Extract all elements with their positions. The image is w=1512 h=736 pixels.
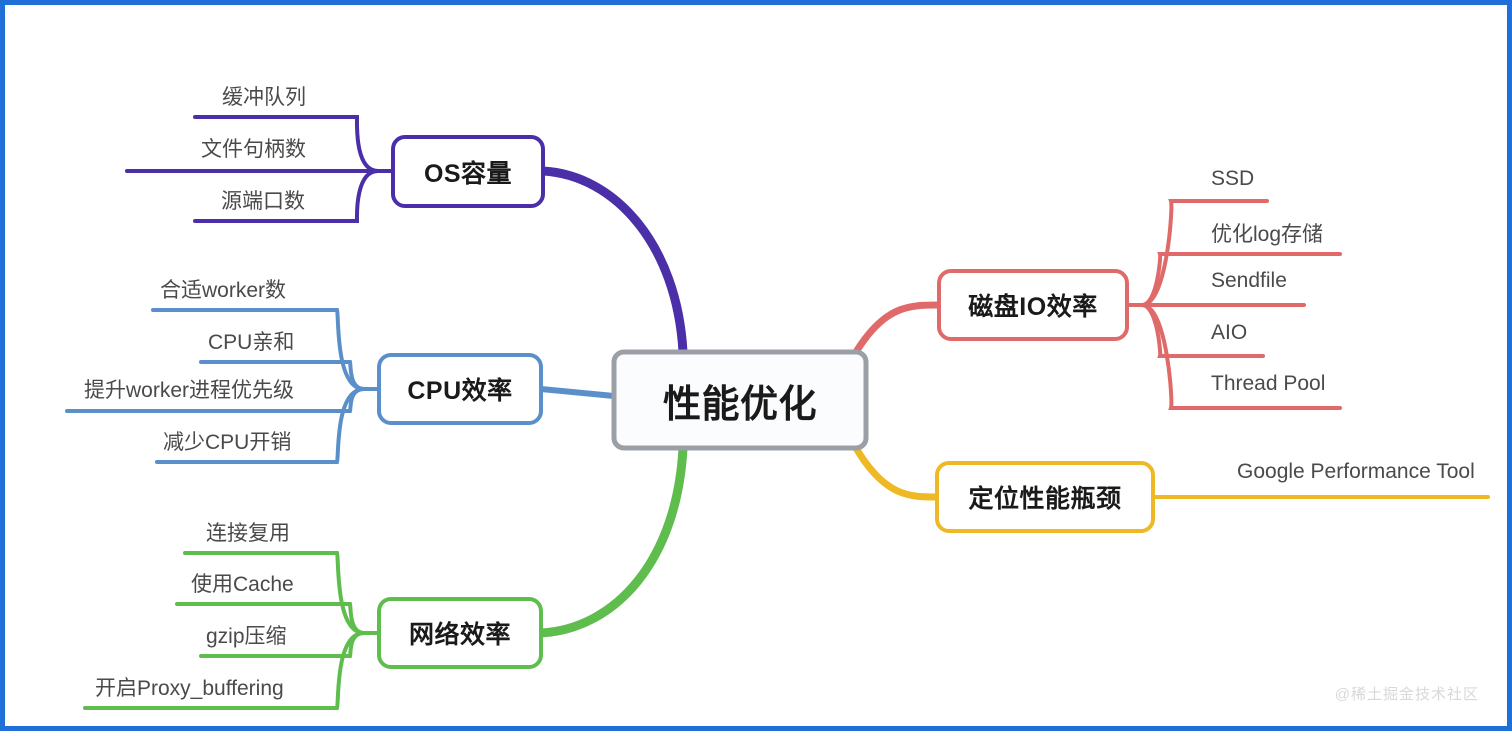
branch-node-bottleneck[interactable]: 定位性能瓶颈 — [937, 463, 1153, 531]
leaf-label: 源端口数 — [221, 190, 305, 213]
trunk-cpu — [541, 389, 614, 396]
leaf-disk-0[interactable]: SSD — [1211, 167, 1254, 191]
branch-label-disk: 磁盘IO效率 — [968, 287, 1097, 323]
trunk-bottleneck — [856, 448, 937, 497]
branch-label-cpu: CPU效率 — [407, 371, 512, 407]
branch-node-cpu[interactable]: CPU效率 — [379, 355, 541, 423]
leaf-label: 使用Cache — [191, 573, 294, 596]
leaf-label: 提升worker进程优先级 — [84, 379, 294, 402]
leaf-net-3[interactable]: 开启Proxy_buffering — [95, 672, 284, 702]
trunk-net — [541, 448, 683, 633]
leaf-os-2[interactable]: 源端口数 — [221, 185, 305, 215]
branch-node-disk[interactable]: 磁盘IO效率 — [939, 271, 1127, 339]
branch-label-net: 网络效率 — [409, 615, 511, 651]
leaf-label: AIO — [1211, 321, 1247, 344]
leaf-label: CPU亲和 — [208, 331, 294, 354]
leaf-cpu-2[interactable]: 提升worker进程优先级 — [84, 374, 294, 404]
watermark: @稀土掘金技术社区 — [1335, 683, 1479, 704]
branch-node-os[interactable]: OS容量 — [393, 137, 543, 206]
branch-label-bottleneck: 定位性能瓶颈 — [968, 479, 1121, 515]
leaf-label: 文件句柄数 — [201, 138, 306, 161]
leaf-label: Sendfile — [1211, 269, 1287, 292]
leaf-label: 优化log存储 — [1211, 223, 1323, 246]
leaf-net-2[interactable]: gzip压缩 — [206, 620, 287, 650]
trunk-disk — [856, 305, 939, 352]
central-node[interactable]: 性能优化 — [614, 352, 866, 448]
leaf-label: 连接复用 — [206, 522, 290, 545]
leaf-cpu-1[interactable]: CPU亲和 — [208, 326, 294, 356]
mindmap-canvas: 性能优化 OS容量 CPU效率 网络效率 磁盘IO效率 定位性能瓶颈 缓冲队列 … — [0, 0, 1512, 731]
leaf-label: 缓冲队列 — [222, 86, 306, 109]
leaf-label: 开启Proxy_buffering — [95, 677, 284, 700]
leaf-label: Thread Pool — [1211, 372, 1325, 395]
leaf-label: 减少CPU开销 — [163, 431, 291, 454]
leaf-label: SSD — [1211, 167, 1254, 190]
branch-label-os: OS容量 — [424, 154, 512, 190]
leaf-os-0[interactable]: 缓冲队列 — [5, 81, 523, 111]
leaf-label: 合适worker数 — [160, 279, 286, 302]
leaf-disk-3[interactable]: AIO — [1211, 321, 1247, 345]
leaf-disk-2[interactable]: Sendfile — [1211, 269, 1287, 293]
central-node-label: 性能优化 — [663, 373, 817, 428]
leaf-label: Google Performance Tool — [1237, 460, 1475, 483]
leaf-label: gzip压缩 — [206, 625, 287, 648]
leaf-bottleneck-0[interactable]: Google Performance Tool — [1237, 460, 1475, 484]
leaf-cpu-0[interactable]: 合适worker数 — [160, 274, 286, 304]
leaf-os-1[interactable]: 文件句柄数 — [201, 133, 306, 163]
leaf-net-1[interactable]: 使用Cache — [191, 568, 294, 598]
leaf-net-0[interactable]: 连接复用 — [206, 517, 290, 547]
leaf-disk-1[interactable]: 优化log存储 — [1211, 218, 1323, 248]
leaf-cpu-3[interactable]: 减少CPU开销 — [163, 426, 291, 456]
trunk-os — [543, 171, 683, 352]
leaf-disk-4[interactable]: Thread Pool — [1211, 372, 1325, 396]
branch-node-net[interactable]: 网络效率 — [379, 599, 541, 667]
